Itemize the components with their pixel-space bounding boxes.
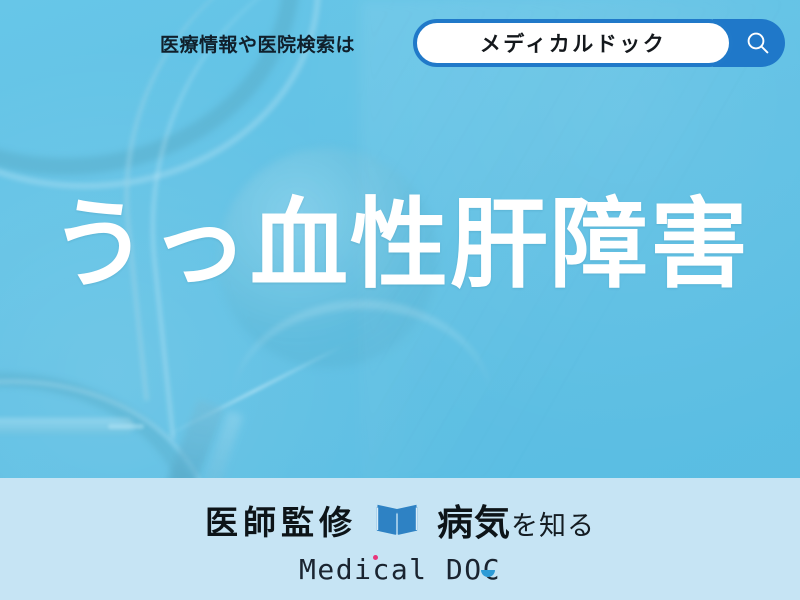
syringe-tip — [108, 424, 144, 429]
hero-title-area: うっ血性肝障害 — [0, 196, 800, 294]
header-tagline: 医療情報や医院検索は — [160, 30, 355, 57]
footer-caption-row: 医師監修 病気 を知る — [205, 494, 595, 546]
brand-logo: Medical DOC — [299, 553, 501, 586]
header-bar: 医療情報や医院検索は メディカルドック — [0, 0, 800, 86]
footer-band: 医師監修 病気 を知る Medical DOC — [0, 478, 800, 600]
page-title: うっ血性肝障害 — [50, 196, 750, 294]
search-group[interactable]: メディカルドック — [413, 19, 733, 67]
search-input-value: メディカルドック — [480, 28, 667, 58]
search-input[interactable]: メディカルドック — [413, 19, 733, 67]
brand-logo-text: Medical DOC — [299, 553, 501, 586]
footer-topic-suffix: を知る — [511, 504, 595, 543]
page-root: 医療情報や医院検索は メディカルドック うっ血性肝障害 医師監修 — [0, 0, 800, 600]
logo-row: Medical DOC — [299, 553, 501, 586]
supervision-label: 医師監修 — [205, 496, 357, 544]
open-book-icon — [375, 503, 419, 537]
logo-accent-dot-icon — [373, 555, 378, 560]
search-icon — [745, 30, 771, 56]
footer-topic: 病気 を知る — [437, 494, 595, 546]
footer-topic-primary: 病気 — [437, 494, 511, 546]
